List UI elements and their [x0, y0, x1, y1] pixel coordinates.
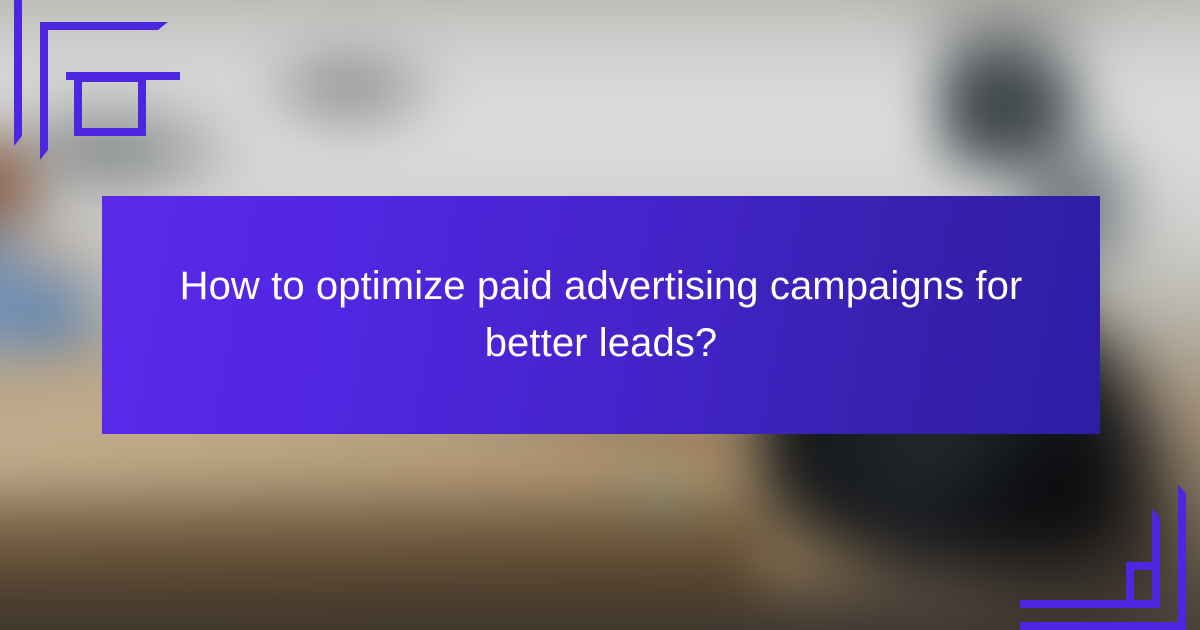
background-sticky-note-teal	[638, 475, 692, 509]
title-banner: How to optimize paid advertising campaig…	[102, 196, 1100, 434]
background-sticky-note-orange	[660, 445, 706, 479]
social-card: How to optimize paid advertising campaig…	[0, 0, 1200, 630]
page-title: How to optimize paid advertising campaig…	[156, 258, 1046, 372]
background-table-front	[0, 495, 760, 605]
background-bottom-shade	[0, 600, 1120, 630]
background-monitor-center	[250, 40, 450, 130]
